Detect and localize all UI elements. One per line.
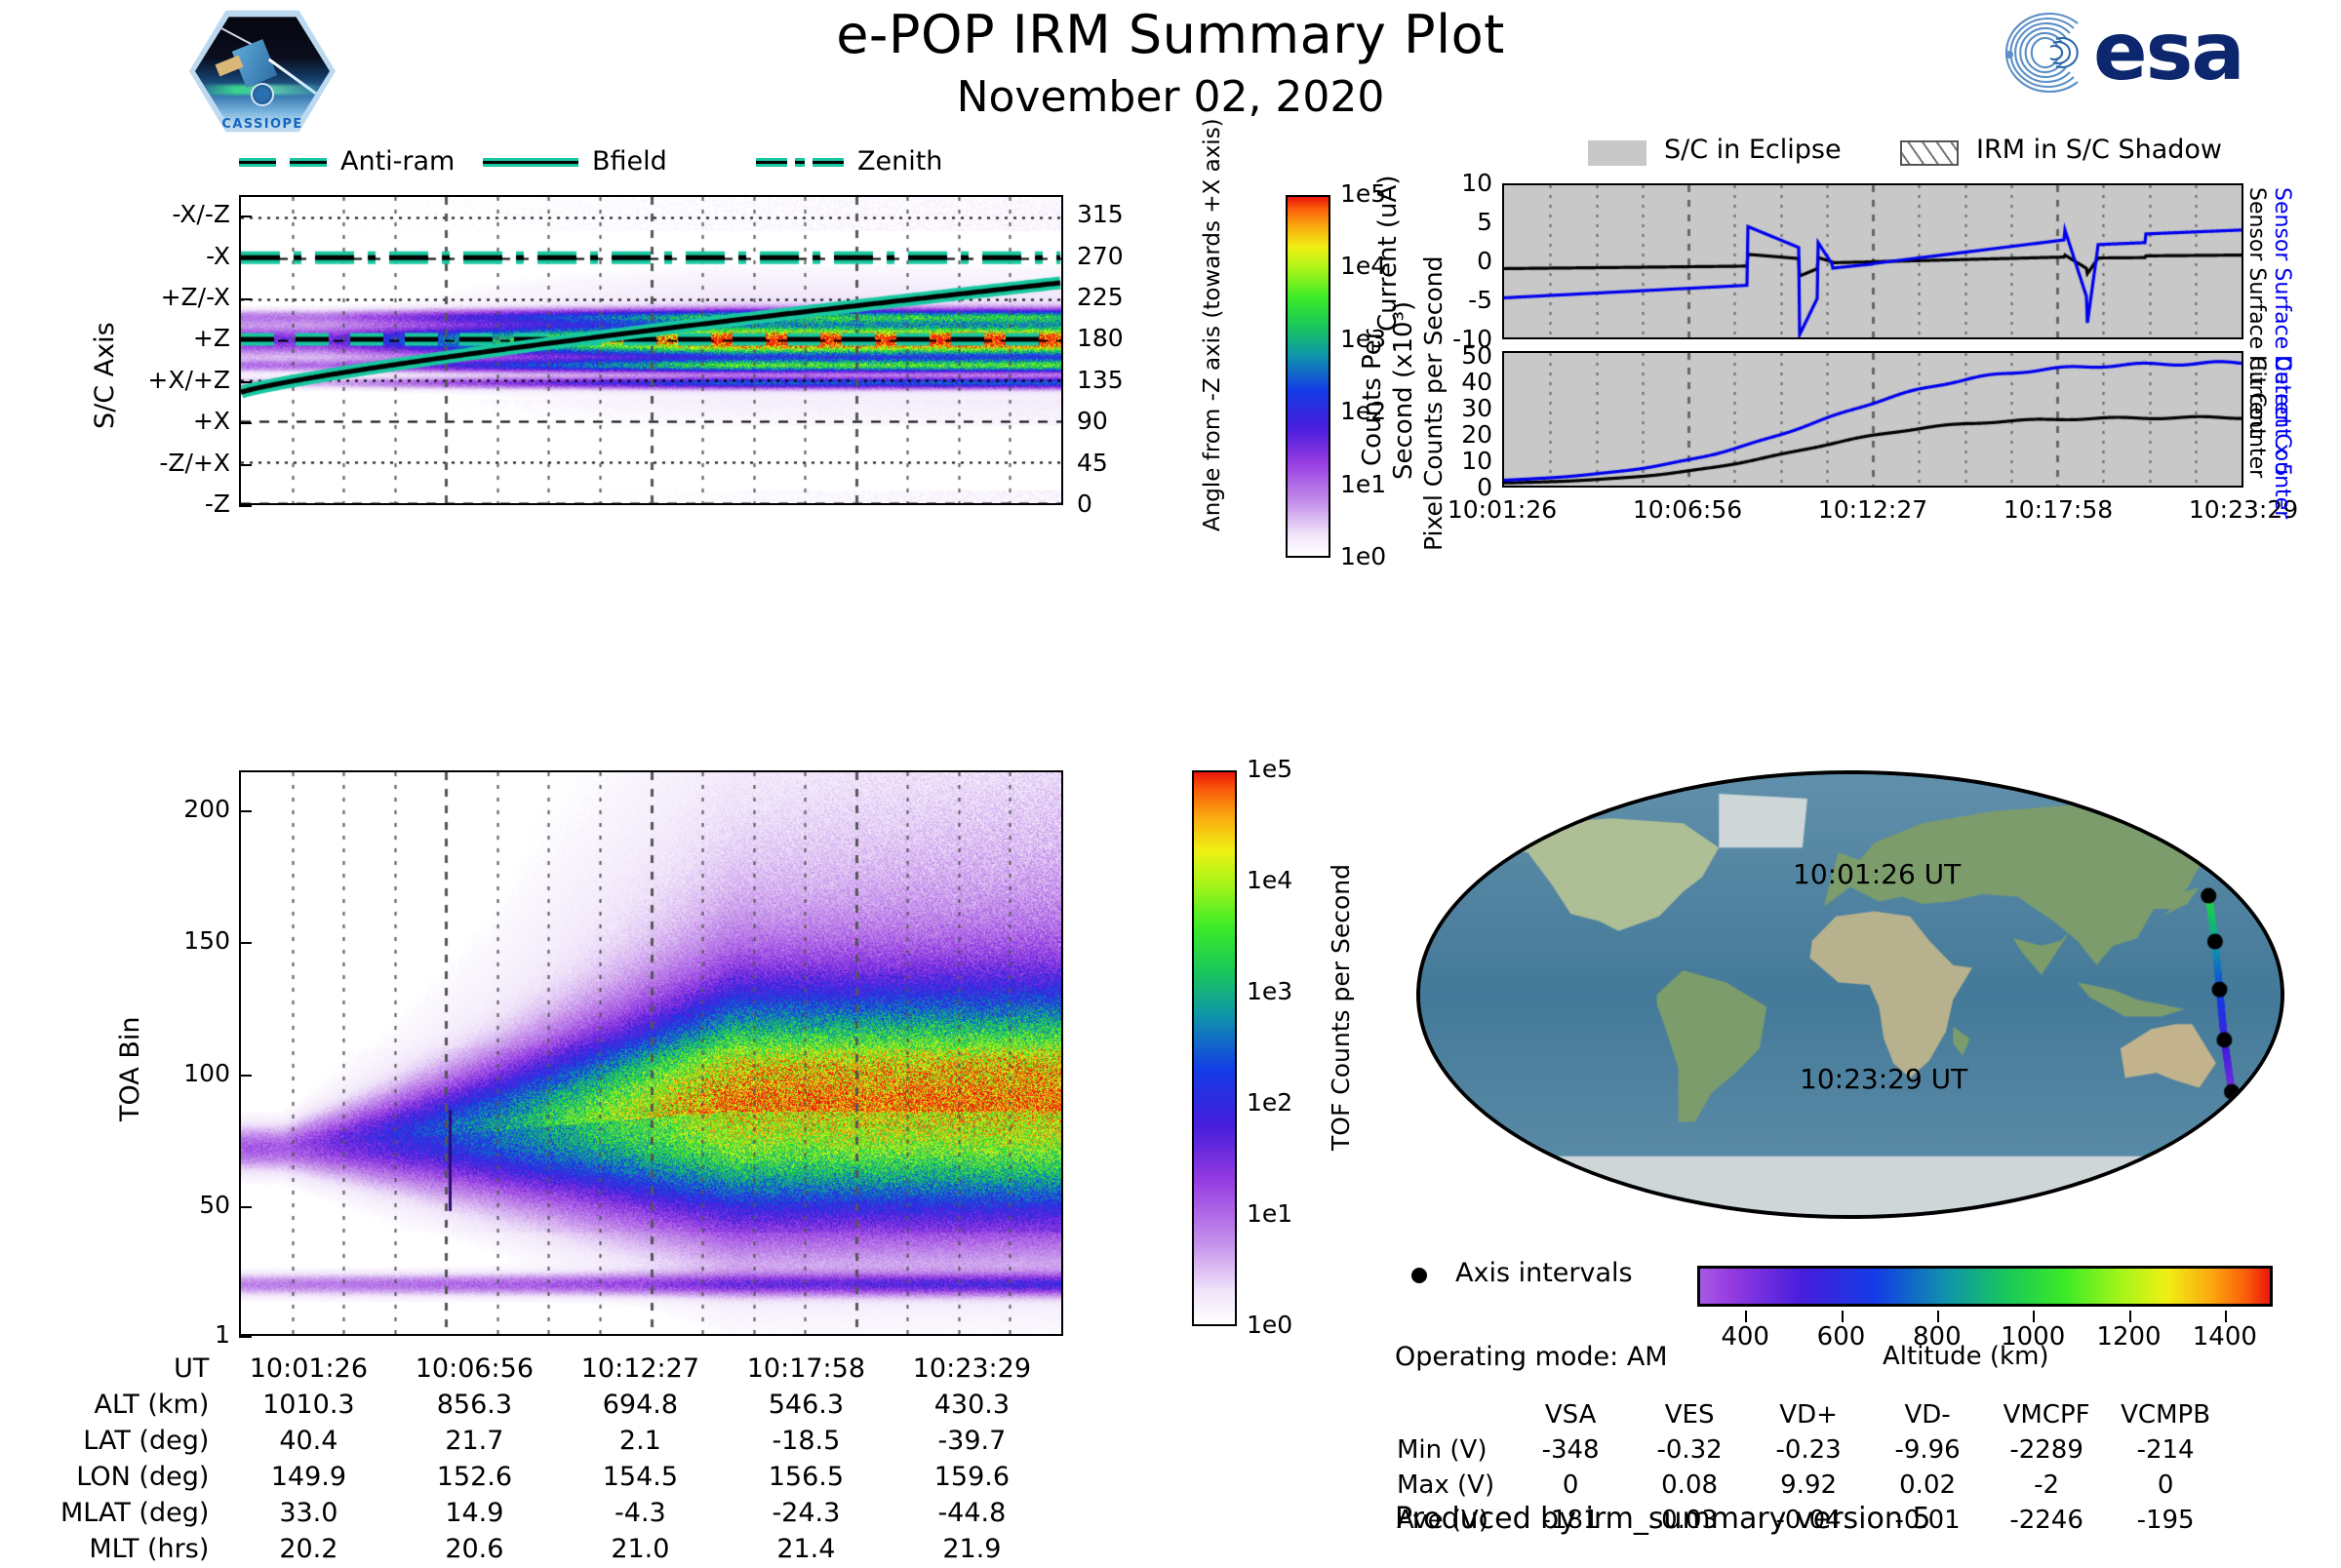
tof-colorbar-tick-1: 1e4	[1247, 866, 1292, 894]
legend-label-bfield: Bfield	[592, 146, 667, 176]
orbit-table-row: UT10:01:2610:06:5610:12:2710:17:5810:23:…	[60, 1352, 1053, 1386]
voltage-cell: -0.32	[1631, 1433, 1748, 1467]
voltage-row-label: Min (V)	[1397, 1433, 1510, 1467]
altitude-tick-5: 1400	[2193, 1322, 2257, 1352]
counts-xtick-3: 10:17:58	[1966, 495, 2150, 524]
page-header: e-POP IRM Summary Plot November 02, 2020…	[0, 0, 2341, 127]
sc-axis-ytick-6: -Z/+X	[107, 449, 230, 477]
sc-axis-right-ytick-4: 135	[1077, 366, 1131, 394]
legend-swatch-eclipse	[1588, 140, 1647, 166]
voltage-column-header: VD+	[1750, 1398, 1867, 1431]
sc-axis-right-ytick-0: 315	[1077, 200, 1131, 228]
orbit-cell: -24.3	[724, 1496, 888, 1530]
voltage-cell: -2246	[1988, 1504, 2105, 1537]
counts-per-second-plot[interactable]	[1502, 351, 2243, 488]
counts-xtick-2: 10:12:27	[1781, 495, 1964, 524]
orbit-cell: 159.6	[890, 1460, 1053, 1494]
esa-swirl-icon	[1984, 10, 2093, 96]
legend-swatch-bfield	[483, 158, 578, 167]
orbit-row-label: MLAT (deg)	[60, 1496, 224, 1530]
orbit-cell: 152.6	[392, 1460, 556, 1494]
legend-swatch-anti-ram-2	[290, 158, 327, 167]
orbit-cell: -39.7	[890, 1424, 1053, 1458]
angle-overlay-legend: Anti-ram Bfield Zenith	[239, 144, 1063, 183]
counts-ytick-0: 50	[1414, 341, 1492, 370]
cassiope-patch-label: CASSIOPE	[181, 117, 343, 132]
altitude-colorbar-title: Altitude (km)	[1883, 1342, 2049, 1371]
orbit-table-row: LON (deg)149.9152.6154.5156.5159.6	[60, 1460, 1053, 1494]
counts-xtick-0: 10:01:26	[1410, 495, 1594, 524]
orbit-ground-track-map[interactable]	[1416, 770, 2284, 1219]
sc-axis-right-ytick-2: 225	[1077, 283, 1131, 311]
sc-axis-ytick-7: -Z	[107, 490, 230, 518]
pixel-counts-colorbar-gradient	[1288, 197, 1329, 556]
esa-wordmark: esa	[2093, 8, 2243, 98]
orbit-cell: -18.5	[724, 1424, 888, 1458]
toa-tickmark-2	[239, 1075, 252, 1077]
sc-axis-right-ytick-7: 0	[1077, 490, 1131, 518]
produced-by-footer: Produced by irm_summary version 5	[1395, 1502, 1930, 1536]
esa-logo: esa	[1984, 6, 2306, 99]
orbit-cell: 546.3	[724, 1388, 888, 1422]
orbit-cell: 856.3	[392, 1388, 556, 1422]
voltage-cell: 9.92	[1750, 1469, 1867, 1502]
sc-axis-right-ytick-6: 45	[1077, 449, 1131, 477]
orbit-cell: 40.4	[226, 1424, 390, 1458]
toa-tickmark-1	[239, 942, 252, 944]
legend-swatch-zenith-2	[813, 158, 844, 167]
orbit-cell: 21.9	[890, 1532, 1053, 1566]
orbit-cell: 14.9	[392, 1496, 556, 1530]
voltage-column-header: VMCPF	[1988, 1398, 2105, 1431]
axis-interval-marker-icon	[1411, 1268, 1427, 1283]
voltage-cell: -214	[2107, 1433, 2224, 1467]
orbit-cell: -44.8	[890, 1496, 1053, 1530]
orbit-parameters-table: UT10:01:2610:06:5610:12:2710:17:5810:23:…	[59, 1350, 1055, 1568]
sc-axis-ytick-4: +X/+Z	[107, 366, 230, 394]
orbit-row-label: ALT (km)	[60, 1388, 224, 1422]
altitude-tick-1: 600	[1817, 1322, 1866, 1352]
pixel-counts-colorbar	[1286, 195, 1330, 558]
voltage-cell: -2	[1988, 1469, 2105, 1502]
legend-label-irm-shadow: IRM in S/C Shadow	[1976, 135, 2222, 165]
altitude-colorbar	[1697, 1266, 2273, 1307]
sc-axis-spectrogram-plot[interactable]	[239, 195, 1063, 505]
sc-axis-tickmark-1	[239, 257, 252, 259]
sc-axis-ytick-2: +Z/-X	[107, 283, 230, 311]
orbit-cell: -4.3	[558, 1496, 722, 1530]
orbit-cell: 149.9	[226, 1460, 390, 1494]
voltage-column-header: VD-	[1869, 1398, 1986, 1431]
voltage-column-header: VSA	[1512, 1398, 1629, 1431]
orbit-cell: 154.5	[558, 1460, 722, 1494]
pixel-colorbar-tick-5: 1e0	[1340, 542, 1386, 570]
orbit-table-row: MLAT (deg)33.014.9-4.3-24.3-44.8	[60, 1496, 1053, 1530]
sc-axis-tickmark-7	[239, 505, 252, 507]
counts-ytick-2: 30	[1414, 394, 1492, 422]
orbit-cell: 20.6	[392, 1532, 556, 1566]
toa-bin-spectrogram-plot[interactable]	[239, 770, 1063, 1336]
orbit-cell: 156.5	[724, 1460, 888, 1494]
toa-ytick-1: 150	[127, 926, 230, 955]
counts-ytick-1: 40	[1414, 368, 1492, 396]
orbit-cell: 1010.3	[226, 1388, 390, 1422]
voltage-table-row: Max (V)00.089.920.02-20	[1397, 1469, 2224, 1502]
toa-ytick-4: 1	[127, 1320, 230, 1349]
altitude-tickmark-2	[1937, 1311, 1939, 1322]
pixel-colorbar-tick-4: 1e1	[1340, 470, 1386, 498]
legend-swatch-anti-ram	[239, 158, 276, 167]
voltage-cell: 0	[2107, 1469, 2224, 1502]
orbit-table-row: LAT (deg)40.421.72.1-18.5-39.7	[60, 1424, 1053, 1458]
counts-right-label-black: Hit Counter	[2244, 355, 2269, 478]
orbit-cell: 10:12:27	[558, 1352, 722, 1386]
toa-tickmark-0	[239, 810, 252, 812]
sc-axis-ytick-3: +Z	[107, 324, 230, 352]
voltage-table-header-row: VSAVESVD+VD-VMCPFVCMPB	[1397, 1398, 2224, 1431]
legend-swatch-zenith	[756, 158, 787, 167]
orbit-cell: 21.7	[392, 1424, 556, 1458]
voltage-table-row: Min (V)-348-0.32-0.23-9.96-2289-214	[1397, 1433, 2224, 1467]
cassiope-mission-patch-icon: CASSIOPE	[181, 4, 343, 138]
toa-tickmark-3	[239, 1206, 252, 1208]
current-traces-canvas	[1504, 185, 2242, 337]
axis-interval-legend-label: Axis intervals	[1455, 1258, 1633, 1288]
orbit-cell: 21.4	[724, 1532, 888, 1566]
altitude-tickmark-0	[1745, 1311, 1747, 1322]
toa-ytick-3: 50	[127, 1191, 230, 1219]
tof-colorbar-tick-5: 1e0	[1247, 1311, 1292, 1339]
altitude-colorbar-gradient	[1700, 1269, 2270, 1304]
sc-axis-tickmark-5	[239, 422, 252, 424]
legend-swatch-irm-shadow	[1900, 140, 1959, 166]
counts-traces-canvas	[1504, 353, 2242, 486]
sc-axis-tickmark-4	[239, 381, 252, 383]
tof-colorbar-tick-0: 1e5	[1247, 755, 1292, 783]
orbit-cell: 694.8	[558, 1388, 722, 1422]
voltage-cell: -195	[2107, 1504, 2224, 1537]
tof-counts-colorbar-title: TOF Counts per Second	[1327, 864, 1355, 1151]
orbit-table-row: ALT (km)1010.3856.3694.8546.3430.3	[60, 1388, 1053, 1422]
voltage-cell: 0.08	[1631, 1469, 1748, 1502]
voltage-column-header: VCMPB	[2107, 1398, 2224, 1431]
orbit-cell: 33.0	[226, 1496, 390, 1530]
voltage-header-spacer	[1397, 1398, 1510, 1431]
orbit-cell: 10:17:58	[724, 1352, 888, 1386]
altitude-tick-0: 400	[1721, 1322, 1769, 1352]
toa-tickmark-4	[239, 1336, 252, 1338]
sc-axis-tickmark-0	[239, 216, 252, 217]
tof-counts-colorbar-gradient	[1194, 772, 1235, 1324]
voltage-cell: -348	[1512, 1433, 1629, 1467]
tof-counts-colorbar	[1192, 770, 1237, 1326]
altitude-tickmark-4	[2129, 1311, 2131, 1322]
current-ytick-1: 5	[1403, 208, 1492, 236]
altitude-tickmark-3	[2033, 1311, 2035, 1322]
orbit-cell: 10:06:56	[392, 1352, 556, 1386]
counts-xtick-4: 10:23:29	[2152, 495, 2335, 524]
current-ytick-2: 0	[1403, 247, 1492, 275]
orbit-cell: 10:01:26	[226, 1352, 390, 1386]
sc-axis-tickmark-6	[239, 464, 252, 466]
toa-ytick-0: 200	[127, 795, 230, 823]
counts-ytick-4: 10	[1414, 447, 1492, 475]
eclipse-shadow-legend: S/C in Eclipse IRM in S/C Shadow	[1502, 137, 2243, 172]
voltage-cell: 0.02	[1869, 1469, 1986, 1502]
operating-mode-label: Operating mode: AM	[1395, 1342, 1668, 1372]
tof-colorbar-tick-3: 1e2	[1247, 1088, 1292, 1117]
sc-axis-right-ytick-5: 90	[1077, 407, 1131, 435]
sc-axis-right-ytick-1: 270	[1077, 242, 1131, 270]
legend-label-zenith: Zenith	[857, 146, 942, 176]
toa-ytick-2: 100	[127, 1059, 230, 1087]
sc-axis-right-ytick-3: 180	[1077, 324, 1131, 352]
orbit-cell: 430.3	[890, 1388, 1053, 1422]
counts-right-label-blue: Detect Counter	[2270, 355, 2294, 519]
legend-label-eclipse: S/C in Eclipse	[1664, 135, 1842, 165]
orbit-cell: 10:23:29	[890, 1352, 1053, 1386]
altitude-tickmark-5	[2225, 1311, 2227, 1322]
counts-ylabel-line1: Counts Per	[1358, 330, 1387, 466]
orbit-row-label: UT	[60, 1352, 224, 1386]
world-map-canvas	[1420, 774, 2281, 1215]
sc-axis-ytick-1: -X	[107, 242, 230, 270]
current-ytick-0: 10	[1403, 169, 1492, 197]
sc-axis-tickmark-2	[239, 298, 252, 300]
orbit-cell: 2.1	[558, 1424, 722, 1458]
toa-bin-heatmap-canvas	[241, 772, 1061, 1334]
voltage-cell: -9.96	[1869, 1433, 1986, 1467]
counts-ytick-3: 20	[1414, 420, 1492, 449]
sensor-surface-current-plot[interactable]	[1502, 183, 2243, 339]
orbit-cell: 21.0	[558, 1532, 722, 1566]
orbit-table-row: MLT (hrs)20.220.621.021.421.9	[60, 1532, 1053, 1566]
orbit-row-label: MLT (hrs)	[60, 1532, 224, 1566]
world-map-ellipse	[1416, 770, 2284, 1219]
voltage-column-header: VES	[1631, 1398, 1748, 1431]
voltage-cell: -0.23	[1750, 1433, 1867, 1467]
map-end-time-label: 10:23:29 UT	[1800, 1063, 1967, 1095]
sc-axis-ytick-5: +X	[107, 407, 230, 435]
sc-axis-tickmark-3	[239, 339, 252, 341]
altitude-tickmark-1	[1842, 1311, 1844, 1322]
tof-colorbar-tick-2: 1e3	[1247, 977, 1292, 1005]
orbit-row-label: LON (deg)	[60, 1460, 224, 1494]
sc-axis-right-ylabel: Angle from -Z axis (towards +X axis)	[1200, 118, 1225, 531]
voltage-cell: 0	[1512, 1469, 1629, 1502]
legend-label-anti-ram: Anti-ram	[340, 146, 455, 176]
legend-swatch-zenith-dot	[795, 158, 805, 167]
map-start-time-label: 10:01:26 UT	[1793, 858, 1961, 890]
sc-axis-heatmap-canvas	[241, 197, 1061, 503]
altitude-tick-4: 1200	[2096, 1322, 2161, 1352]
voltage-cell: -2289	[1988, 1433, 2105, 1467]
tof-colorbar-tick-4: 1e1	[1247, 1199, 1292, 1228]
orbit-cell: 20.2	[226, 1532, 390, 1566]
orbit-row-label: LAT (deg)	[60, 1424, 224, 1458]
counts-xtick-1: 10:06:56	[1596, 495, 1779, 524]
sc-axis-ytick-0: -X/-Z	[107, 200, 230, 228]
voltage-row-label: Max (V)	[1397, 1469, 1510, 1502]
